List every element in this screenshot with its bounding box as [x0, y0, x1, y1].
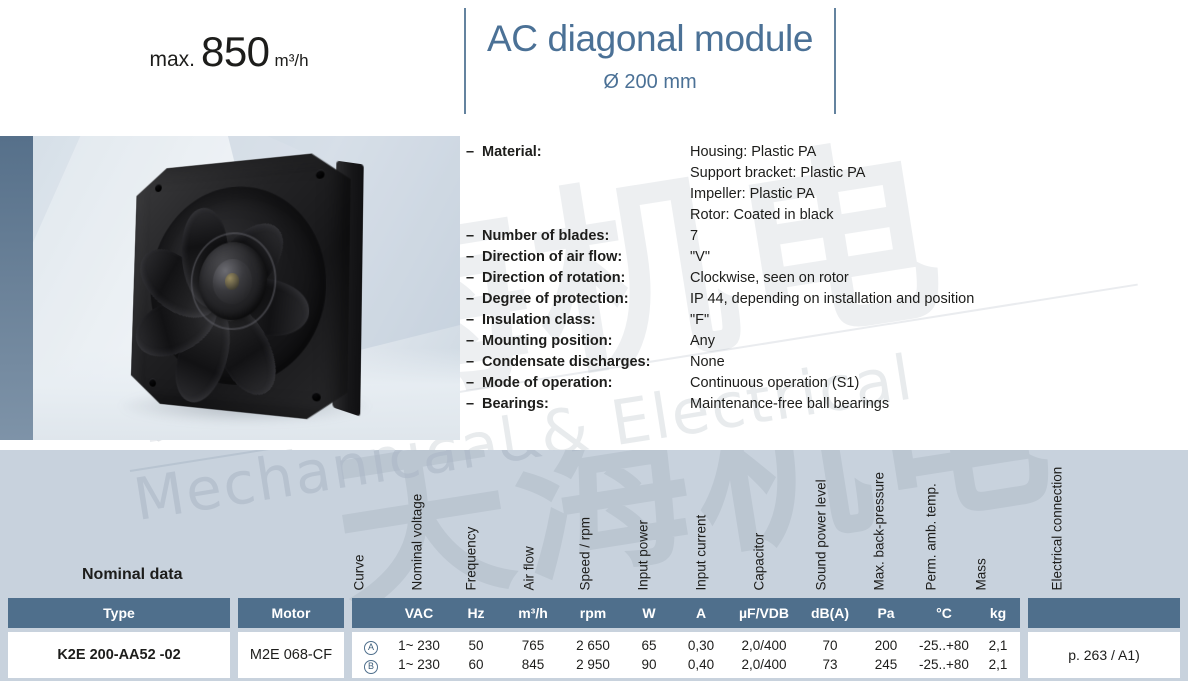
fan-unit-illustration [130, 150, 351, 424]
spec-label: Insulation class: [482, 310, 690, 331]
photo-accent-bar [0, 136, 33, 440]
unit-header-temp: °C [912, 598, 976, 628]
airflow-value-b: 845 [522, 655, 545, 674]
cell-input-current: 0,30 0,40 [674, 632, 728, 678]
spec-value: "F" [690, 310, 1166, 331]
column-header-curve: Curve [353, 554, 367, 590]
spec-label: Direction of rotation: [482, 268, 690, 289]
nominal-data-title: Nominal data [82, 566, 182, 584]
spec-value: "V" [690, 247, 1166, 268]
cell-nominal-voltage: 1~ 230 1~ 230 [390, 632, 448, 678]
spec-bullet: – [466, 373, 482, 394]
curve-badge-b-label: B [364, 660, 378, 674]
vac-value-a: 1~ 230 [398, 636, 440, 655]
spec-row-mode-of-operation: – Mode of operation: Continuous operatio… [466, 373, 1166, 394]
cell-mass: 2,1 2,1 [976, 632, 1020, 678]
spec-value-group: Clockwise, seen on rotor [690, 268, 1166, 289]
temp-value-a: -25..+80 [919, 636, 969, 655]
unit-header-curve [352, 598, 390, 628]
column-header-mass: Mass [975, 558, 989, 590]
spec-label: Bearings: [482, 394, 690, 415]
spec-label: Condensate discharges: [482, 352, 690, 373]
electrical-connection-link[interactable]: p. 263 / A1) [1068, 647, 1140, 663]
spec-label: Direction of air flow: [482, 247, 690, 268]
spec-row-degree-of-protection: – Degree of protection: IP 44, depending… [466, 289, 1166, 310]
rpm-value-b: 2 950 [576, 655, 610, 674]
product-title-block: AC diagonal module Ø 200 mm [466, 18, 834, 94]
temp-value-b: -25..+80 [919, 655, 969, 674]
unit-header-current: A [674, 598, 728, 628]
spec-value: Any [690, 331, 1166, 352]
column-header-capacitor: Capacitor [753, 532, 767, 590]
spec-label: Number of blades: [482, 226, 690, 247]
spec-label: Material: [482, 142, 690, 163]
spec-row-bearings: – Bearings: Maintenance-free ball bearin… [466, 394, 1166, 415]
unit-header-airflow: m³/h [504, 598, 562, 628]
spec-row-direction-of-rotation: – Direction of rotation: Clockwise, seen… [466, 268, 1166, 289]
cell-electrical-connection[interactable]: p. 263 / A1) [1028, 632, 1180, 678]
curve-badge-b: B [364, 655, 378, 674]
sound-value-b: 73 [822, 655, 837, 674]
spec-value: Impeller: Plastic PA [690, 184, 1166, 205]
spec-value-group: IP 44, depending on installation and pos… [690, 289, 1166, 310]
spec-bullet: – [466, 289, 482, 310]
unit-header-row: Type Motor VAC Hz m³/h rpm W A µF/VDB dB… [0, 598, 1188, 628]
datasheet-page: 天海机电 Mechanical & Electrical max.850m³/h… [0, 0, 1188, 681]
unit-header-mass: kg [976, 598, 1020, 628]
vac-value-b: 1~ 230 [398, 655, 440, 674]
spec-value-group: 7 [690, 226, 1166, 247]
spec-bullet: – [466, 247, 482, 268]
spec-row-condensate-discharges: – Condensate discharges: None [466, 352, 1166, 373]
unit-header-motor: Motor [238, 598, 344, 628]
capacitor-value-b: 2,0/400 [741, 655, 786, 674]
spec-value: Housing: Plastic PA [690, 142, 1166, 163]
max-airflow-value: 850 [201, 28, 270, 75]
column-header-air-flow: Air flow [523, 546, 537, 590]
spec-value: Clockwise, seen on rotor [690, 268, 1166, 289]
spec-bullet: – [466, 394, 482, 415]
spec-value: IP 44, depending on installation and pos… [690, 289, 1166, 310]
specification-list: – Material: Housing: Plastic PA Support … [466, 142, 1166, 415]
spec-value-group: Any [690, 331, 1166, 352]
spec-bullet: – [466, 352, 482, 373]
cell-capacitor: 2,0/400 2,0/400 [728, 632, 800, 678]
unit-header-rpm: rpm [562, 598, 624, 628]
spec-row-mounting-position: – Mounting position: Any [466, 331, 1166, 352]
spec-value-group: Housing: Plastic PA Support bracket: Pla… [690, 142, 1166, 226]
table-row: K2E 200-AA52 -02 M2E 068-CF A B 1~ 230 1… [0, 632, 1188, 678]
unit-header-power: W [624, 598, 674, 628]
spec-bullet: – [466, 268, 482, 289]
unit-header-vac: VAC [390, 598, 448, 628]
spec-value: Maintenance-free ball bearings [690, 394, 1166, 415]
spec-value: Support bracket: Plastic PA [690, 163, 1166, 184]
pressure-value-b: 245 [875, 655, 898, 674]
cell-max-back-pressure: 200 245 [860, 632, 912, 678]
column-header-input-current: Input current [695, 514, 709, 590]
rotated-column-headers: Nominal data Curve Nominal voltage Frequ… [0, 450, 1188, 598]
cell-motor: M2E 068-CF [238, 632, 344, 678]
spec-value-group: Maintenance-free ball bearings [690, 394, 1166, 415]
spec-value-group: "F" [690, 310, 1166, 331]
unit-header-hz: Hz [448, 598, 504, 628]
power-value-a: 65 [641, 636, 656, 655]
cell-frequency: 50 60 [448, 632, 504, 678]
spec-value: 7 [690, 226, 1166, 247]
column-header-input-power: Input power [637, 519, 651, 590]
spec-value: None [690, 352, 1166, 373]
unit-header-pressure: Pa [860, 598, 912, 628]
pressure-value-a: 200 [875, 636, 898, 655]
cell-perm-amb-temp: -25..+80 -25..+80 [912, 632, 976, 678]
spec-value-group: None [690, 352, 1166, 373]
hz-value-b: 60 [468, 655, 483, 674]
nominal-data-table: 天海机电 Mechanical & Electrical Nominal dat… [0, 450, 1188, 681]
spec-label: Degree of protection: [482, 289, 690, 310]
spec-bullet: – [466, 226, 482, 247]
page-header: max.850m³/h AC diagonal module Ø 200 mm [0, 0, 1188, 130]
power-value-b: 90 [641, 655, 656, 674]
unit-header-connection [1028, 598, 1180, 628]
unit-header-sound: dB(A) [800, 598, 860, 628]
spec-label: Mode of operation: [482, 373, 690, 394]
cell-air-flow: 765 845 [504, 632, 562, 678]
column-header-electrical-connection: Electrical connection [1051, 466, 1065, 590]
airflow-value-a: 765 [522, 636, 545, 655]
spec-value-group: "V" [690, 247, 1166, 268]
hz-value-a: 50 [468, 636, 483, 655]
max-airflow-label: max. [149, 48, 195, 71]
cell-curve: A B [352, 632, 390, 678]
curve-badge-a: A [364, 636, 378, 655]
spec-row-material: – Material: Housing: Plastic PA Support … [466, 142, 1166, 226]
mass-value-b: 2,1 [989, 655, 1008, 674]
rpm-value-a: 2 650 [576, 636, 610, 655]
page-title: AC diagonal module [466, 18, 834, 61]
spec-bullet: – [466, 310, 482, 331]
cell-input-power: 65 90 [624, 632, 674, 678]
column-header-nominal-voltage: Nominal voltage [411, 493, 425, 590]
spec-value: Continuous operation (S1) [690, 373, 1166, 394]
sound-value-a: 70 [822, 636, 837, 655]
product-photo [0, 136, 460, 440]
spec-value: Rotor: Coated in black [690, 205, 1166, 226]
spec-label: Mounting position: [482, 331, 690, 352]
spec-bullet: – [466, 331, 482, 352]
max-airflow-unit: m³/h [275, 51, 309, 70]
unit-header-type: Type [8, 598, 230, 628]
cell-speed-rpm: 2 650 2 950 [562, 632, 624, 678]
motor-value: M2E 068-CF [250, 647, 332, 663]
page-subtitle: Ø 200 mm [466, 71, 834, 94]
column-header-speed-rpm: Speed / rpm [579, 516, 593, 590]
cell-sound-power-level: 70 73 [800, 632, 860, 678]
curve-badge-a-label: A [364, 641, 378, 655]
spec-bullet: – [466, 142, 482, 163]
spec-row-insulation-class: – Insulation class: "F" [466, 310, 1166, 331]
current-value-a: 0,30 [688, 636, 714, 655]
unit-header-capacitor: µF/VDB [728, 598, 800, 628]
spec-row-direction-of-air-flow: – Direction of air flow: "V" [466, 247, 1166, 268]
column-header-max-back-pressure: Max. back-pressure [873, 471, 887, 590]
column-header-sound-power-level: Sound power level [815, 479, 829, 590]
spec-value-group: Continuous operation (S1) [690, 373, 1166, 394]
column-header-frequency: Frequency [465, 526, 479, 590]
header-divider-right [834, 8, 836, 114]
spec-row-number-of-blades: – Number of blades: 7 [466, 226, 1166, 247]
current-value-b: 0,40 [688, 655, 714, 674]
cell-type: K2E 200-AA52 -02 [8, 632, 230, 678]
column-header-perm-amb-temp: Perm. amb. temp. [925, 483, 939, 590]
capacitor-value-a: 2,0/400 [741, 636, 786, 655]
max-airflow-callout: max.850m³/h [0, 28, 458, 76]
mass-value-a: 2,1 [989, 636, 1008, 655]
type-value: K2E 200-AA52 -02 [57, 647, 180, 663]
